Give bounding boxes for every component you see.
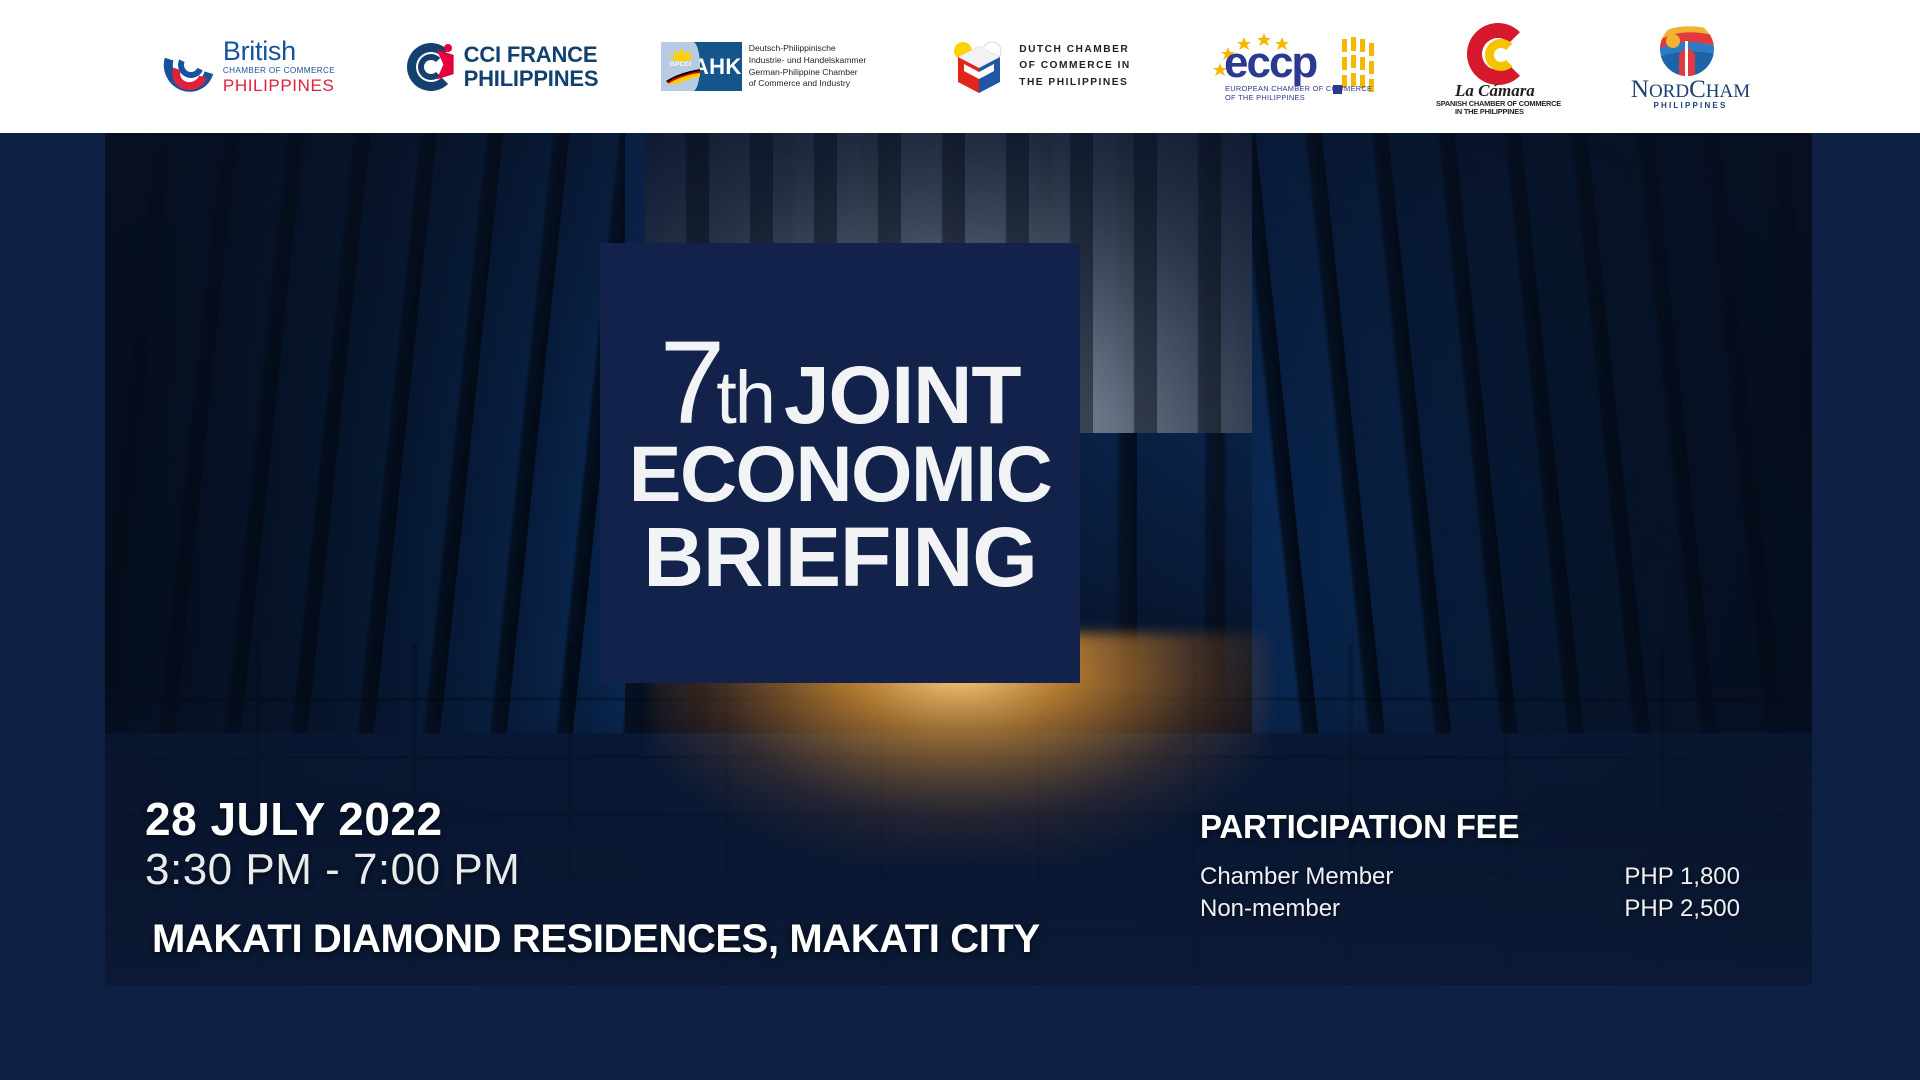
- logo-ahk-gpcci: GPCCI AHK Deutsch-Philippinische Industr…: [649, 42, 879, 91]
- logo-ahk-line3: German-Philippine Chamber: [749, 67, 867, 79]
- logo-british-chamber: British CHAMBER OF COMMERCE PHILIPPINES: [145, 38, 355, 96]
- event-datetime-block: 28 JULY 2022 3:30 PM - 7:00 PM: [145, 795, 520, 894]
- logo-eccp-wordmark: eccp: [1224, 41, 1316, 85]
- title-line-1: 7thJOINT: [660, 327, 1021, 439]
- partner-logo-bar: British CHAMBER OF COMMERCE PHILIPPINES …: [0, 0, 1920, 133]
- event-time: 3:30 PM - 7:00 PM: [145, 845, 520, 894]
- logo-eccp-line1: EUROPEAN CHAMBER OF COMMERCE: [1225, 84, 1372, 93]
- logo-nord-word4: HAM: [1706, 81, 1750, 102]
- logo-nord-word1: N: [1631, 76, 1649, 103]
- logo-british-line3: PHILIPPINES: [223, 77, 335, 95]
- logo-nordcham: NORDCHAM PHILIPPINES: [1606, 19, 1776, 115]
- ahk-mark-icon: GPCCI AHK: [661, 42, 742, 91]
- participation-fee-block: PARTICIPATION FEE Chamber Member PHP 1,8…: [1200, 808, 1740, 924]
- nordcham-globe-icon: [1659, 21, 1715, 77]
- title-ordinal-number: 7: [660, 327, 723, 439]
- title-ordinal-suffix: th: [716, 363, 774, 433]
- fee-amount: PHP 1,800: [1624, 861, 1740, 893]
- cci-france-c-icon: [407, 43, 455, 91]
- title-line-3: BRIEFING: [643, 515, 1036, 599]
- logo-dutch-chamber: DUTCH CHAMBER OF COMMERCE IN THE PHILIPP…: [921, 40, 1161, 94]
- fee-label: Chamber Member: [1200, 861, 1393, 893]
- event-title-plate: 7thJOINT ECONOMIC BRIEFING: [600, 243, 1080, 683]
- german-flag-swoosh-icon: [666, 68, 700, 84]
- fee-amount: PHP 2,500: [1624, 893, 1740, 925]
- logo-cci-france: CCI FRANCE PHILIPPINES: [403, 43, 603, 91]
- dutch-chamber-cube-icon: [950, 40, 1008, 94]
- logo-eccp: eccp EUROPEAN CHAMBER OF COMMERCE OF THE…: [1201, 31, 1391, 103]
- la-camara-inner-c-icon: [1485, 39, 1517, 71]
- title-line-2: ECONOMIC: [629, 434, 1052, 513]
- logo-camara-script: La Cámara: [1455, 81, 1535, 101]
- logo-ahk-wordmark: AHK: [693, 42, 742, 91]
- logo-nord-sub: PHILIPPINES: [1611, 101, 1771, 110]
- logo-dutch-line2: OF COMMERCE IN: [1019, 58, 1131, 74]
- event-date: 28 JULY 2022: [145, 795, 520, 845]
- fee-label: Non-member: [1200, 893, 1340, 925]
- logo-ahk-badge: GPCCI: [670, 61, 692, 68]
- logo-ahk-line4: of Commerce and Industry: [749, 78, 867, 90]
- logo-british-line1: British: [223, 38, 335, 65]
- logo-ahk-line2: Industrie- und Handelskammer: [749, 55, 867, 67]
- logo-dutch-line3: THE PHILIPPINES: [1019, 75, 1131, 91]
- participation-fee-heading: PARTICIPATION FEE: [1200, 808, 1740, 846]
- logo-ahk-line1: Deutsch-Philippinische: [749, 43, 867, 55]
- title-word-joint: JOINT: [784, 357, 1020, 435]
- logo-eccp-line2: OF THE PHILIPPINES: [1225, 93, 1305, 102]
- logo-cci-line1: CCI FRANCE: [464, 43, 599, 66]
- logo-nord-word3: C: [1689, 76, 1706, 103]
- fee-row: Non-member PHP 2,500: [1200, 893, 1740, 925]
- logo-la-camara: La Cámara SPANISH CHAMBER OF COMMERCE IN…: [1427, 21, 1572, 113]
- logo-nord-word2: ORD: [1649, 81, 1689, 102]
- eccp-square-icon: [1333, 85, 1342, 94]
- fee-row: Chamber Member PHP 1,800: [1200, 861, 1740, 893]
- logo-cci-line2: PHILIPPINES: [464, 67, 599, 90]
- event-venue: MAKATI DIAMOND RESIDENCES, MAKATI CITY: [152, 917, 1040, 962]
- british-chamber-swoosh-icon: [164, 38, 216, 96]
- logo-dutch-line1: DUTCH CHAMBER: [1019, 42, 1131, 58]
- logo-camara-line2: IN THE PHILIPPINES: [1455, 107, 1524, 116]
